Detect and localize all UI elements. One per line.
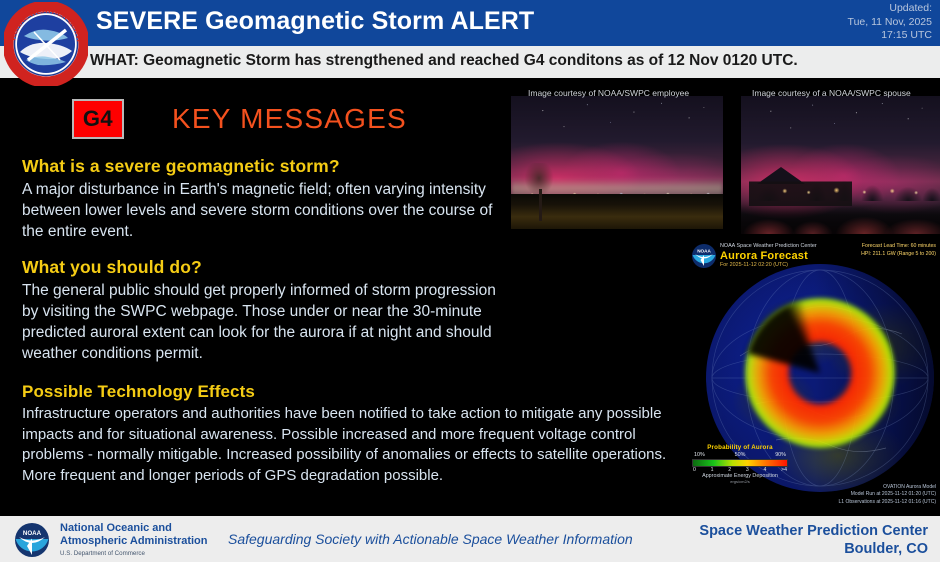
noaa-badge-icon: NOAA [691, 243, 717, 269]
stars-layer [511, 96, 723, 169]
section-body: The general public should get properly i… [22, 280, 512, 364]
legend-percent-labels: 10% 50% 90% [692, 451, 788, 459]
alert-graphic: NATIONAL WEATHER SERVICE SEVERE Geomagne… [0, 0, 940, 562]
footer-bar: NOAA National Oceanic and Atmospheric Ad… [0, 516, 940, 562]
map-model-run: Model Run at 2025-11-12 01:20 (UTC) [839, 491, 936, 499]
legend-tick-5: >4 [781, 467, 787, 473]
aurora-photo-right [741, 96, 940, 234]
storm-level-badge: G4 [72, 99, 124, 139]
aurora-legend: Probability of Aurora 10% 50% 90% 0 1 2 … [692, 444, 788, 484]
map-model-credits: OVATION Aurora Model Model Run at 2025-1… [839, 484, 936, 507]
map-l1-observations: L1 Observations at 2025-11-12 01:16 (UTC… [839, 499, 936, 507]
street-lights [741, 184, 940, 198]
section-heading: What you should do? [22, 257, 512, 278]
map-agency-label: NOAA Space Weather Prediction Center [720, 243, 817, 249]
updated-stamp: Updated: Tue, 11 Nov, 2025 17:15 UTC [848, 2, 932, 43]
legend-pct-90: 90% [775, 452, 786, 458]
updated-time: 17:15 UTC [848, 29, 932, 43]
aurora-forecast-map[interactable]: NOAA NOAA Space Weather Prediction Cente… [686, 240, 940, 512]
noaa-line-1: National Oceanic and [60, 522, 208, 535]
swpc-center-label: Space Weather Prediction Center Boulder,… [699, 522, 928, 558]
what-statement: WHAT: Geomagnetic Storm has strengthened… [90, 52, 798, 70]
footer-tagline: Safeguarding Society with Actionable Spa… [228, 531, 633, 547]
noaa-line-3: U.S. Department of Commerce [60, 550, 208, 557]
map-model-name: OVATION Aurora Model [839, 484, 936, 492]
section-body: A major disturbance in Earth's magnetic … [22, 179, 502, 242]
updated-date: Tue, 11 Nov, 2025 [848, 16, 932, 30]
section-what-to-do: What you should do? The general public s… [22, 257, 512, 364]
map-valid-time: For 2025-11-12 02:20 (UTC) [720, 262, 788, 268]
page-title: SEVERE Geomagnetic Storm ALERT [96, 7, 534, 36]
aurora-photo-left [511, 96, 723, 229]
map-hpi: HPI: 211.1 GW (Range 5 to 200) [861, 251, 936, 257]
section-heading: What is a severe geomagnetic storm? [22, 156, 502, 177]
legend-pct-50: 50% [735, 452, 746, 458]
photo-caption: Image courtesy of a NOAA/SWPC spouse [752, 88, 911, 98]
swpc-line-1: Space Weather Prediction Center [699, 522, 928, 540]
svg-text:NOAA: NOAA [697, 248, 711, 253]
swpc-line-2: Boulder, CO [699, 540, 928, 558]
noaa-logo-icon: NOAA [14, 522, 50, 558]
legend-units: ergs/cm2/s [692, 479, 788, 484]
bare-tree [519, 163, 559, 221]
svg-text:NOAA: NOAA [23, 530, 42, 537]
section-body: Infrastructure operators and authorities… [22, 404, 687, 486]
key-messages-title: KEY MESSAGES [172, 103, 407, 135]
section-severe-storm: What is a severe geomagnetic storm? A ma… [22, 156, 502, 242]
legend-color-bar [692, 459, 788, 467]
map-title: Aurora Forecast [720, 250, 808, 262]
map-lead-time: Forecast Lead Time: 60 minutes [862, 243, 936, 249]
noaa-line-2: Atmospheric Administration [60, 535, 208, 548]
photo-caption: Image courtesy of NOAA/SWPC employee [528, 88, 689, 98]
foreground-bushes [741, 204, 940, 234]
nws-seal-logo: NATIONAL WEATHER SERVICE [4, 2, 88, 86]
section-technology-effects: Possible Technology Effects Infrastructu… [22, 382, 687, 486]
legend-title: Probability of Aurora [692, 444, 788, 451]
updated-label: Updated: [848, 2, 932, 16]
auroral-oval-gap [745, 298, 895, 448]
legend-pct-10: 10% [694, 452, 705, 458]
noaa-wordmark: National Oceanic and Atmospheric Adminis… [60, 522, 208, 557]
section-heading: Possible Technology Effects [22, 382, 687, 402]
legend-tick-0: 0 [693, 467, 696, 473]
